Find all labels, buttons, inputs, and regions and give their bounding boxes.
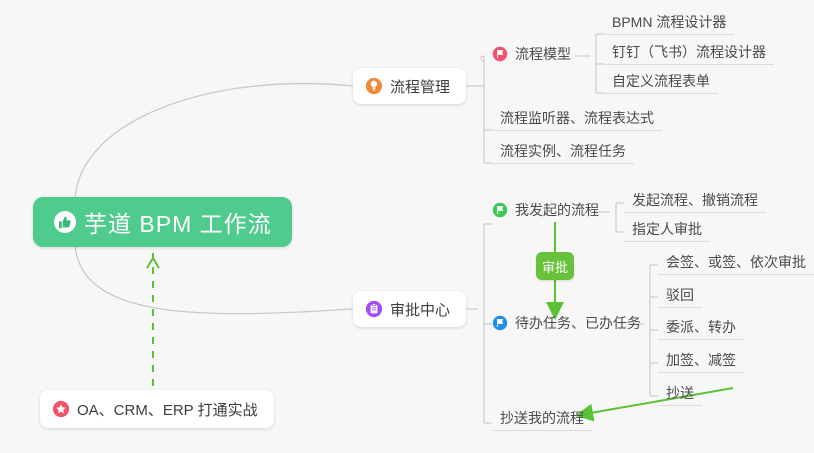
- leaf-custom-form[interactable]: 自定义流程表单: [604, 69, 718, 94]
- approval-tag-label: 审批: [542, 257, 568, 276]
- root-label: 芋道 BPM 工作流: [84, 205, 272, 239]
- leaf-label: 指定人审批: [632, 220, 702, 238]
- leaf-label: 钉钉（飞书）流程设计器: [612, 43, 766, 61]
- leaf-process-instance[interactable]: 流程实例、流程任务: [492, 139, 634, 164]
- leaf-dingtalk-designer[interactable]: 钉钉（飞书）流程设计器: [604, 40, 774, 65]
- group-todo-done[interactable]: 待办任务、已办任务: [492, 313, 641, 333]
- leaf-label: 抄送: [666, 384, 694, 402]
- leaf-label: 自定义流程表单: [612, 72, 710, 90]
- branch-process-management[interactable]: 流程管理: [353, 68, 466, 104]
- leaf-cc-to-me[interactable]: 抄送我的流程: [492, 406, 592, 431]
- group-my-initiated[interactable]: 我发起的流程: [492, 200, 599, 220]
- leaf-cc[interactable]: 抄送: [658, 381, 702, 406]
- leaf-label: 抄送我的流程: [500, 409, 584, 427]
- group-label: 我发起的流程: [515, 200, 599, 220]
- bottom-card-label: OA、CRM、ERP 打通实战: [77, 399, 258, 420]
- flag-icon: [492, 46, 508, 62]
- leaf-label: 流程实例、流程任务: [500, 142, 626, 160]
- leaf-label: 流程监听器、流程表达式: [500, 109, 654, 127]
- leaf-start-cancel-process[interactable]: 发起流程、撤销流程: [624, 188, 766, 213]
- edge-root-to-approval-center: [75, 244, 353, 314]
- leaf-reject[interactable]: 驳回: [658, 283, 702, 308]
- lightbulb-icon: [365, 77, 383, 95]
- leaf-add-remove-sign[interactable]: 加签、减签: [658, 348, 744, 373]
- group-label: 流程模型: [515, 44, 571, 64]
- leaf-process-listener[interactable]: 流程监听器、流程表达式: [492, 106, 662, 131]
- leaf-label: 委派、转办: [666, 318, 736, 336]
- group-label: 待办任务、已办任务: [515, 313, 641, 333]
- leaf-label: 会签、或签、依次审批: [666, 253, 806, 271]
- branch-approval-center[interactable]: 审批中心: [353, 291, 466, 327]
- leaf-label: 驳回: [666, 286, 694, 304]
- edge-pm-spine-top: [481, 56, 484, 62]
- branch-label: 流程管理: [390, 76, 450, 97]
- clipboard-icon: [365, 300, 383, 318]
- edge-root-to-process-management: [75, 84, 353, 199]
- leaf-assignee-approval[interactable]: 指定人审批: [624, 217, 710, 242]
- leaf-delegate-transfer[interactable]: 委派、转办: [658, 315, 744, 340]
- flag-icon: [492, 315, 508, 331]
- thumbs-up-icon: [53, 210, 77, 234]
- bottom-highlight-card[interactable]: OA、CRM、ERP 打通实战: [40, 390, 274, 428]
- group-process-model[interactable]: 流程模型: [492, 44, 571, 64]
- flag-icon: [492, 202, 508, 218]
- approval-tag: 审批: [536, 252, 574, 280]
- mindmap-canvas: 芋道 BPM 工作流 流程管理 流程模型 BPMN 流程设计器 钉钉（飞书）流程…: [0, 0, 814, 453]
- star-icon: [52, 400, 70, 418]
- leaf-countersign[interactable]: 会签、或签、依次审批: [658, 250, 814, 275]
- leaf-label: 发起流程、撤销流程: [632, 191, 758, 209]
- branch-label: 审批中心: [390, 299, 450, 320]
- leaf-label: 加签、减签: [666, 351, 736, 369]
- dashed-arrow-head: [147, 258, 159, 268]
- leaf-bpmn-designer[interactable]: BPMN 流程设计器: [604, 10, 734, 35]
- root-node[interactable]: 芋道 BPM 工作流: [33, 197, 292, 247]
- leaf-label: BPMN 流程设计器: [612, 13, 726, 31]
